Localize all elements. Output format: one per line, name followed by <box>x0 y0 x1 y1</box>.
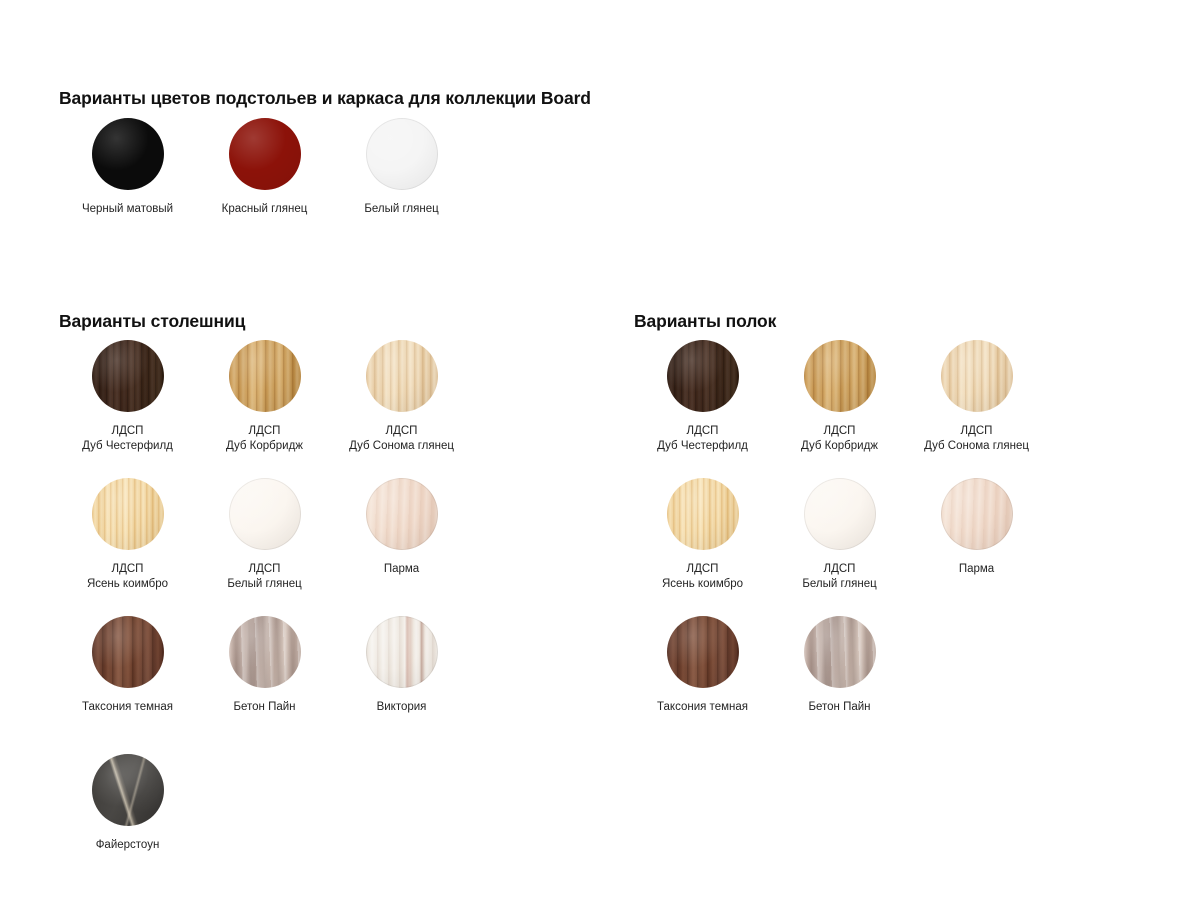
tabletop-swatch-grid: ЛДСПДуб ЧестерфилдЛДСПДуб КорбриджЛДСПДу… <box>59 340 470 892</box>
swatch-item[interactable]: ЛДСПДуб Сонома глянец <box>908 340 1045 478</box>
swatch-item[interactable]: Таксония темная <box>634 616 771 754</box>
swatch-disc[interactable] <box>92 754 164 826</box>
swatch-disc[interactable] <box>92 340 164 412</box>
swatch-disc[interactable] <box>804 478 876 550</box>
swatch-label: ЛДСПДуб Корбридж <box>226 424 303 454</box>
swatch-disc[interactable] <box>229 616 301 688</box>
swatch-disc[interactable] <box>229 118 301 190</box>
swatch-item[interactable]: ЛДСПДуб Корбридж <box>771 340 908 478</box>
swatch-label: Черный матовый <box>82 202 173 217</box>
swatch-disc[interactable] <box>366 616 438 688</box>
frame-color-grid: Черный матовыйКрасный глянецБелый глянец <box>59 118 470 224</box>
swatch-label-primary: Таксония темная <box>82 701 173 713</box>
swatch-item[interactable]: Файерстоун <box>59 754 196 892</box>
swatch-label-primary: ЛДСП <box>824 563 856 575</box>
swatch-disc[interactable] <box>667 478 739 550</box>
swatch-disc[interactable] <box>366 118 438 190</box>
swatch-item[interactable]: Белый глянец <box>333 118 470 224</box>
swatch-label-secondary: Дуб Сонома глянец <box>349 439 454 454</box>
swatch-label-primary: Парма <box>959 563 994 575</box>
swatch-label-primary: ЛДСП <box>824 425 856 437</box>
swatch-label-secondary: Дуб Корбридж <box>801 439 878 454</box>
swatch-item[interactable]: ЛДСПДуб Честерфилд <box>59 340 196 478</box>
swatch-disc[interactable] <box>92 616 164 688</box>
swatch-label-primary: ЛДСП <box>249 563 281 575</box>
swatch-label-primary: ЛДСП <box>687 563 719 575</box>
swatch-label: Виктория <box>377 700 427 715</box>
page-title: Варианты цветов подстольев и каркаса для… <box>59 88 591 109</box>
swatch-disc[interactable] <box>804 616 876 688</box>
swatch-label-primary: Парма <box>384 563 419 575</box>
swatch-label-secondary: Ясень коимбро <box>662 577 743 592</box>
swatch-item[interactable]: Виктория <box>333 616 470 754</box>
swatch-label-primary: Черный матовый <box>82 203 173 215</box>
swatch-label-primary: Виктория <box>377 701 427 713</box>
swatch-label: Файерстоун <box>96 838 160 853</box>
swatch-label-primary: Бетон Пайн <box>808 701 870 713</box>
swatch-label-primary: ЛДСП <box>112 563 144 575</box>
swatch-label-secondary: Дуб Корбридж <box>226 439 303 454</box>
swatch-item[interactable]: Парма <box>908 478 1045 616</box>
swatch-disc[interactable] <box>366 478 438 550</box>
swatch-label-secondary: Дуб Сонома глянец <box>924 439 1029 454</box>
swatch-label: Парма <box>384 562 419 577</box>
swatch-item[interactable]: Бетон Пайн <box>196 616 333 754</box>
swatch-item[interactable]: Красный глянец <box>196 118 333 224</box>
swatch-label: Таксония темная <box>657 700 748 715</box>
swatch-disc[interactable] <box>229 478 301 550</box>
color-options-page: Варианты цветов подстольев и каркаса для… <box>0 0 1200 900</box>
shelf-swatch-grid: ЛДСПДуб ЧестерфилдЛДСПДуб КорбриджЛДСПДу… <box>634 340 1045 754</box>
swatch-label-primary: Красный глянец <box>222 203 308 215</box>
swatch-label-primary: Белый глянец <box>364 203 438 215</box>
swatch-item[interactable]: ЛДСПДуб Сонома глянец <box>333 340 470 478</box>
swatch-label: ЛДСПБелый глянец <box>802 562 876 592</box>
shelves-heading: Варианты полок <box>634 311 776 332</box>
swatch-disc[interactable] <box>229 340 301 412</box>
swatch-item[interactable]: Таксония темная <box>59 616 196 754</box>
swatch-label: ЛДСПБелый глянец <box>227 562 301 592</box>
swatch-label-primary: ЛДСП <box>249 425 281 437</box>
swatch-label: Белый глянец <box>364 202 438 217</box>
swatch-disc[interactable] <box>366 340 438 412</box>
swatch-disc[interactable] <box>667 616 739 688</box>
swatch-item[interactable]: ЛДСПЯсень коимбро <box>634 478 771 616</box>
swatch-label: ЛДСПДуб Честерфилд <box>82 424 173 454</box>
swatch-label: Красный глянец <box>222 202 308 217</box>
swatch-label: ЛДСПДуб Сонома глянец <box>349 424 454 454</box>
swatch-item[interactable]: ЛДСПДуб Корбридж <box>196 340 333 478</box>
swatch-label-secondary: Дуб Честерфилд <box>82 439 173 454</box>
swatch-disc[interactable] <box>667 340 739 412</box>
swatch-label-primary: ЛДСП <box>961 425 993 437</box>
swatch-label: ЛДСПДуб Сонома глянец <box>924 424 1029 454</box>
swatch-label-secondary: Ясень коимбро <box>87 577 168 592</box>
swatch-item[interactable]: ЛДСПЯсень коимбро <box>59 478 196 616</box>
swatch-label-secondary: Белый глянец <box>802 577 876 592</box>
swatch-item[interactable]: Бетон Пайн <box>771 616 908 754</box>
swatch-disc[interactable] <box>92 118 164 190</box>
swatch-item[interactable]: ЛДСПДуб Честерфилд <box>634 340 771 478</box>
swatch-label: Бетон Пайн <box>808 700 870 715</box>
swatch-label: ЛДСПЯсень коимбро <box>87 562 168 592</box>
swatch-label: ЛДСПЯсень коимбро <box>662 562 743 592</box>
swatch-label: Парма <box>959 562 994 577</box>
tabletops-heading: Варианты столешниц <box>59 311 245 332</box>
swatch-disc[interactable] <box>941 478 1013 550</box>
swatch-label-primary: ЛДСП <box>687 425 719 437</box>
swatch-label: Таксония темная <box>82 700 173 715</box>
swatch-label-primary: Файерстоун <box>96 839 160 851</box>
swatch-item[interactable]: Черный матовый <box>59 118 196 224</box>
swatch-label-secondary: Белый глянец <box>227 577 301 592</box>
swatch-item[interactable]: ЛДСПБелый глянец <box>196 478 333 616</box>
swatch-label-secondary: Дуб Честерфилд <box>657 439 748 454</box>
swatch-disc[interactable] <box>804 340 876 412</box>
swatch-item[interactable]: ЛДСПБелый глянец <box>771 478 908 616</box>
swatch-label-primary: Бетон Пайн <box>233 701 295 713</box>
swatch-disc[interactable] <box>92 478 164 550</box>
swatch-label: Бетон Пайн <box>233 700 295 715</box>
swatch-label-primary: ЛДСП <box>386 425 418 437</box>
swatch-label: ЛДСПДуб Корбридж <box>801 424 878 454</box>
swatch-disc[interactable] <box>941 340 1013 412</box>
swatch-label: ЛДСПДуб Честерфилд <box>657 424 748 454</box>
swatch-label-primary: Таксония темная <box>657 701 748 713</box>
swatch-label-primary: ЛДСП <box>112 425 144 437</box>
swatch-item[interactable]: Парма <box>333 478 470 616</box>
